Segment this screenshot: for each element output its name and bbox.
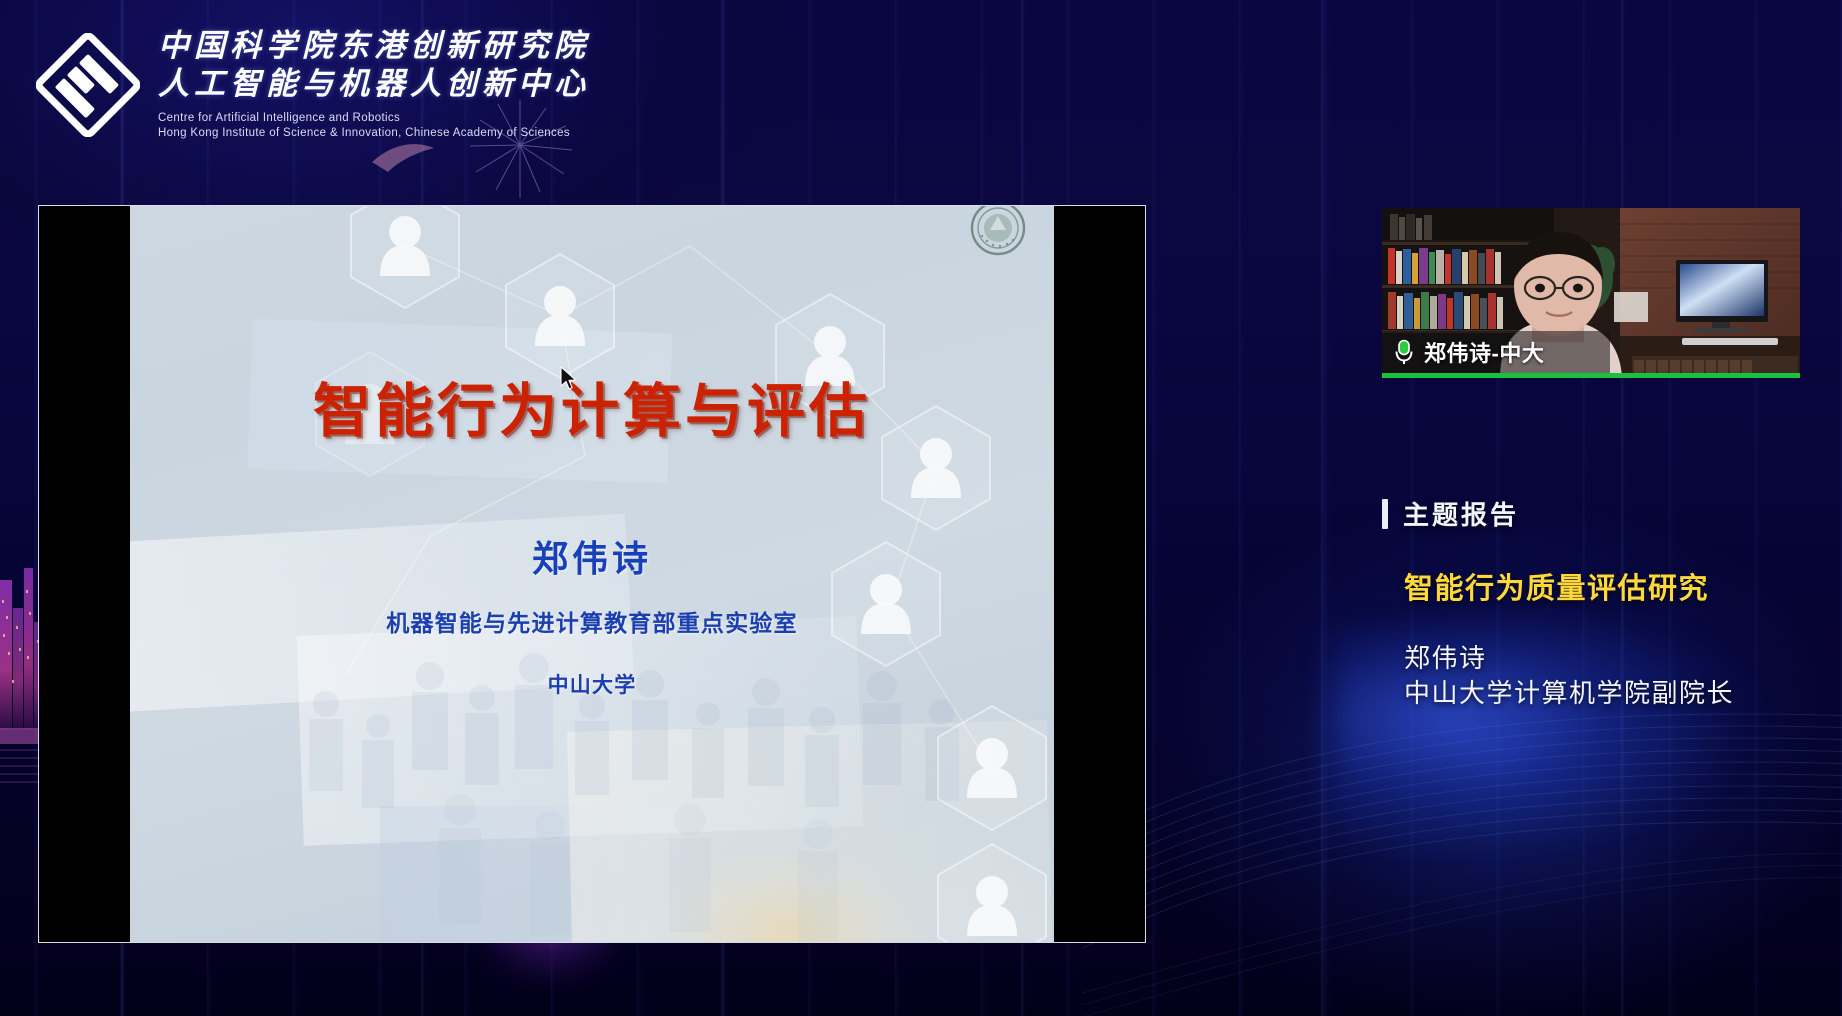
speaker-affiliation: 中山大学计算机学院副院长 bbox=[1404, 676, 1828, 711]
participant-name-label: 郑伟诗-中大 bbox=[1424, 336, 1544, 368]
speaker-name: 郑伟诗 bbox=[1404, 641, 1828, 676]
slide-photo-band bbox=[297, 616, 864, 845]
session-label-row: 主题报告 bbox=[1382, 495, 1828, 532]
org-name-en-line2: Hong Kong Institute of Science & Innovat… bbox=[158, 126, 590, 141]
org-name-cn-line2: 人工智能与机器人创新中心 bbox=[158, 66, 590, 102]
org-name-cn-line1: 中国科学院东港创新研究院 bbox=[158, 28, 590, 64]
slide-lab-affiliation: 机器智能与先进计算教育部重点实验室 bbox=[130, 604, 1054, 638]
session-type-label: 主题报告 bbox=[1403, 495, 1519, 532]
slide-author-name: 郑伟诗 bbox=[130, 530, 1054, 582]
diamond-lattice-logo-icon bbox=[36, 33, 140, 137]
talk-title: 智能行为质量评估研究 bbox=[1404, 565, 1828, 607]
participant-name-strip: 郑伟诗-中大 bbox=[1382, 331, 1610, 373]
session-accent-bar bbox=[1382, 499, 1388, 529]
participant-video-tile[interactable]: 郑伟诗-中大 bbox=[1382, 208, 1800, 378]
slide-university: 中山大学 bbox=[130, 669, 1054, 699]
organization-logo-header: 中国科学院东港创新研究院 人工智能与机器人创新中心 Centre for Art… bbox=[36, 28, 590, 142]
slide-photo-band bbox=[380, 806, 680, 942]
slide-title: 智能行为计算与评估 bbox=[130, 364, 1054, 448]
screen-share-frame[interactable]: 智能行为计算与评估 郑伟诗 机器智能与先进计算教育部重点实验室 中山大学 bbox=[38, 205, 1146, 943]
org-name-en-line1: Centre for Artificial Intelligence and R… bbox=[158, 111, 590, 126]
university-seal-icon bbox=[970, 206, 1026, 256]
speaker-info-block: 郑伟诗 中山大学计算机学院副院长 bbox=[1404, 641, 1828, 712]
broadcast-stage: 中国科学院东港创新研究院 人工智能与机器人创新中心 Centre for Art… bbox=[0, 0, 1842, 1016]
presentation-slide[interactable]: 智能行为计算与评估 郑伟诗 机器智能与先进计算教育部重点实验室 中山大学 bbox=[130, 206, 1054, 942]
screen-share-letterbox: 智能行为计算与评估 郑伟诗 机器智能与先进计算教育部重点实验室 中山大学 bbox=[39, 206, 1145, 942]
slide-warm-glow bbox=[670, 846, 930, 942]
session-info-panel: 主题报告 智能行为质量评估研究 郑伟诗 中山大学计算机学院副院长 bbox=[1382, 495, 1828, 712]
microphone-on-icon bbox=[1393, 339, 1415, 365]
slide-photo-band bbox=[567, 720, 1053, 942]
